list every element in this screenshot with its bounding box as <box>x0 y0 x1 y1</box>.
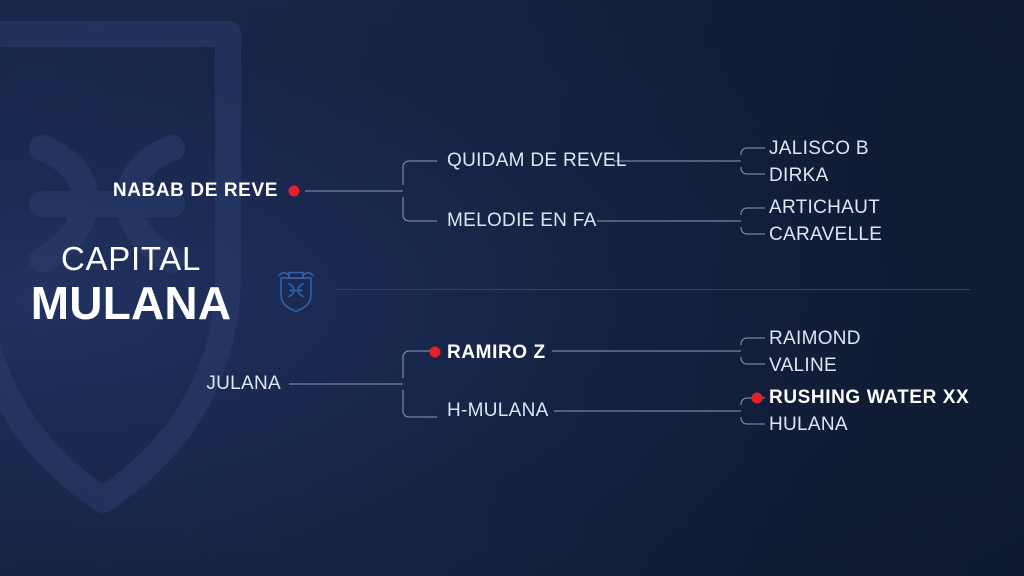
node-bottom-grandparent-3[interactable]: RUSHING WATER XX <box>769 387 969 409</box>
node-top-subject[interactable]: NABAB DE REVE <box>0 180 278 202</box>
node-top-parent-1[interactable]: QUIDAM DE REVEL <box>447 150 627 172</box>
node-bottom-subject[interactable]: JULANA <box>0 373 281 395</box>
node-bottom-grandparent-1[interactable]: RAIMOND <box>769 328 861 350</box>
node-top-parent-2[interactable]: MELODIE EN FA <box>447 210 597 232</box>
node-bottom-grandparent-2[interactable]: VALINE <box>769 355 837 377</box>
node-top-grandparent-1[interactable]: JALISCO B <box>769 138 869 160</box>
node-bottom-parent-1[interactable]: RAMIRO Z <box>447 342 546 364</box>
marker-dot-bottom-grandparent-3 <box>752 393 763 404</box>
node-top-grandparent-3[interactable]: ARTICHAUT <box>769 197 880 219</box>
node-bottom-parent-2[interactable]: H-MULANA <box>447 400 549 422</box>
node-top-grandparent-2[interactable]: DIRKA <box>769 165 829 187</box>
node-top-grandparent-4[interactable]: CARAVELLE <box>769 224 882 246</box>
marker-dot-top-subject <box>289 186 300 197</box>
node-bottom-grandparent-4[interactable]: HULANA <box>769 414 848 436</box>
marker-dot-bottom-parent-1 <box>430 347 441 358</box>
pedigree-slide: CAPITAL MULANA <box>0 0 1024 576</box>
pedigree-connectors <box>0 0 1024 576</box>
